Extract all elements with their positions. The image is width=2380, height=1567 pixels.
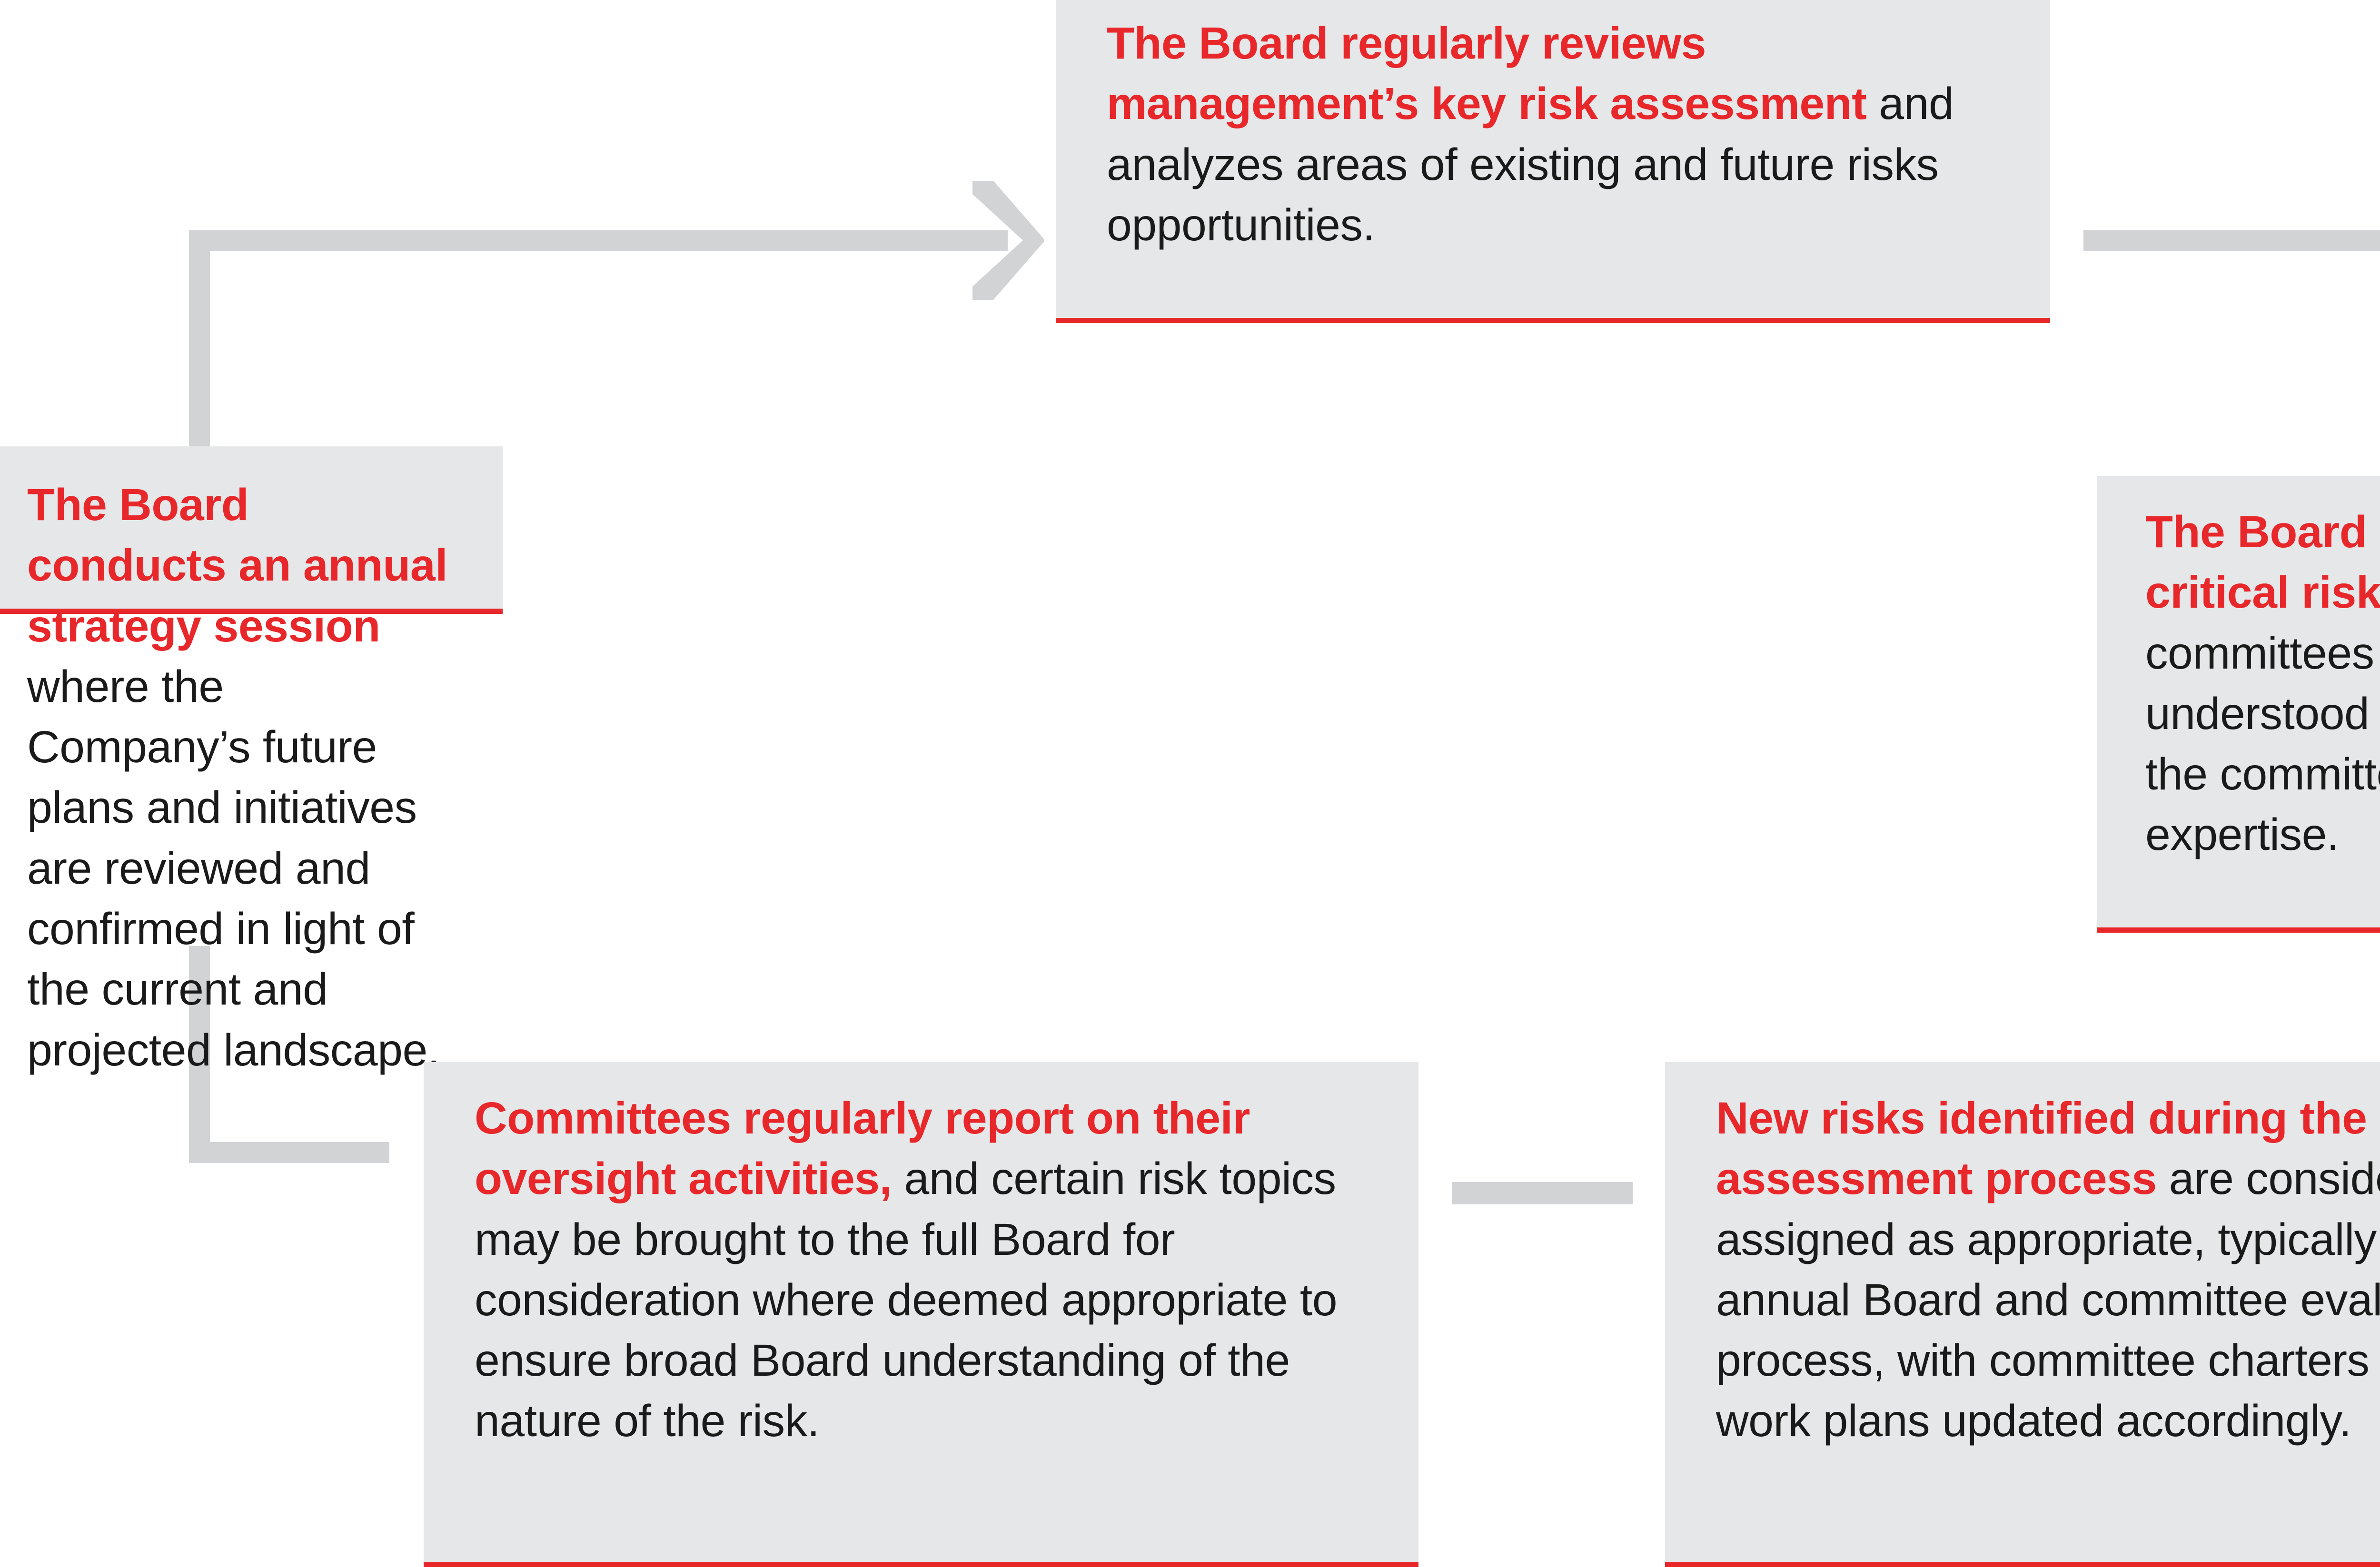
card-left-rest: where the Company’s future plans and ini… (27, 661, 440, 1075)
card-left-accent-bar (0, 609, 503, 614)
card-board-assigns-oversight: The Board assigns oversight of certain c… (2097, 476, 2380, 933)
card-new-risks-identified: New risks identified during the risk ass… (1665, 1062, 2380, 1567)
card-board-annual-strategy-session: The Board conducts an annual strategy se… (0, 446, 503, 614)
card-top-accent-bar (1056, 318, 2050, 323)
card-bottom-left-accent-bar (424, 1562, 1418, 1567)
card-right-accent-bar (2097, 927, 2380, 933)
connector-left-to-bottomleft-horizontal (189, 1142, 389, 1163)
card-left-text: The Board conducts an annual strategy se… (0, 446, 503, 1081)
card-top-lead: The Board regularly reviews management’s… (1107, 18, 1866, 129)
card-bottom-right-text: New risks identified during the risk ass… (1665, 1062, 2380, 1452)
card-right-text: The Board assigns oversight of certain c… (2097, 476, 2380, 866)
arrowhead-chevron-icon (972, 181, 1044, 300)
card-left-lead: The Board conducts an annual strategy se… (27, 480, 447, 651)
card-right-lead: The Board assigns oversight of certain c… (2145, 507, 2380, 618)
connector-left-to-top-vertical (189, 230, 210, 447)
connector-top-to-right-horizontal (2083, 230, 2380, 251)
risk-oversight-diagram: The Board regularly reviews management’s… (0, 0, 2380, 1567)
card-bottom-right-accent-bar (1665, 1562, 2380, 1567)
card-top-text: The Board regularly reviews management’s… (1056, 0, 2050, 256)
card-board-reviews-risk-assessment: The Board regularly reviews management’s… (1056, 0, 2050, 323)
connector-bottomleft-to-bottomright (1452, 1182, 1633, 1204)
connector-left-to-top-horizontal (189, 230, 1008, 251)
card-bottom-left-text: Committees regularly report on their ove… (424, 1062, 1418, 1452)
card-committees-report-oversight: Committees regularly report on their ove… (424, 1062, 1418, 1567)
